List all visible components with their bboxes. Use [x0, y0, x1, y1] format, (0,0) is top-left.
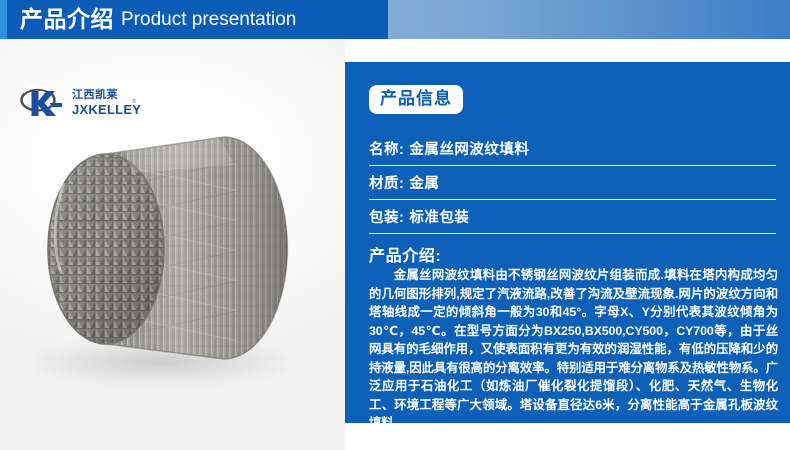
brand-name-cn: 江西凯莱 [72, 87, 118, 101]
product-image [28, 121, 316, 366]
registered-mark: ® [132, 98, 136, 105]
spec-label-material: 材质: [369, 172, 404, 193]
page-header-bar: 产品介绍 Product presentation [0, 0, 790, 39]
header-title-group: 产品介绍 Product presentation [20, 0, 296, 39]
product-photo-panel: 江西凯莱 JXKELLEY ® [0, 39, 345, 450]
spec-row-packaging: 包装: 标准包装 [369, 199, 776, 234]
brand-logo: 江西凯莱 JXKELLEY ® [18, 83, 143, 121]
page-title-cn: 产品介绍 [20, 8, 114, 31]
spec-label-packaging: 包装: [369, 206, 404, 227]
spec-row-name: 名称: 金属丝网波纹填料 [369, 131, 776, 166]
description-body: 金属丝网波纹填料由不锈钢丝网波纹片组装而成.填料在塔内构成均匀的几何图形排列,规… [369, 266, 778, 423]
description-heading: 产品介绍: [369, 242, 441, 266]
spec-label-name: 名称: [369, 138, 404, 159]
page-title-en: Product presentation [121, 10, 296, 29]
spec-value-packaging: 标准包装 [409, 206, 469, 227]
spec-value-material: 金属 [409, 172, 439, 193]
product-info-badge: 产品信息 [369, 85, 463, 114]
brand-name-en: JXKELLEY [72, 102, 141, 117]
product-info-panel: 产品信息 名称: 金属丝网波纹填料 材质: 金属 包装: 标准包装 产品介绍: … [345, 62, 790, 423]
header-accent-stripe [0, 0, 7, 39]
spec-row-material: 材质: 金属 [369, 165, 776, 200]
spec-value-name: 金属丝网波纹填料 [409, 138, 529, 159]
